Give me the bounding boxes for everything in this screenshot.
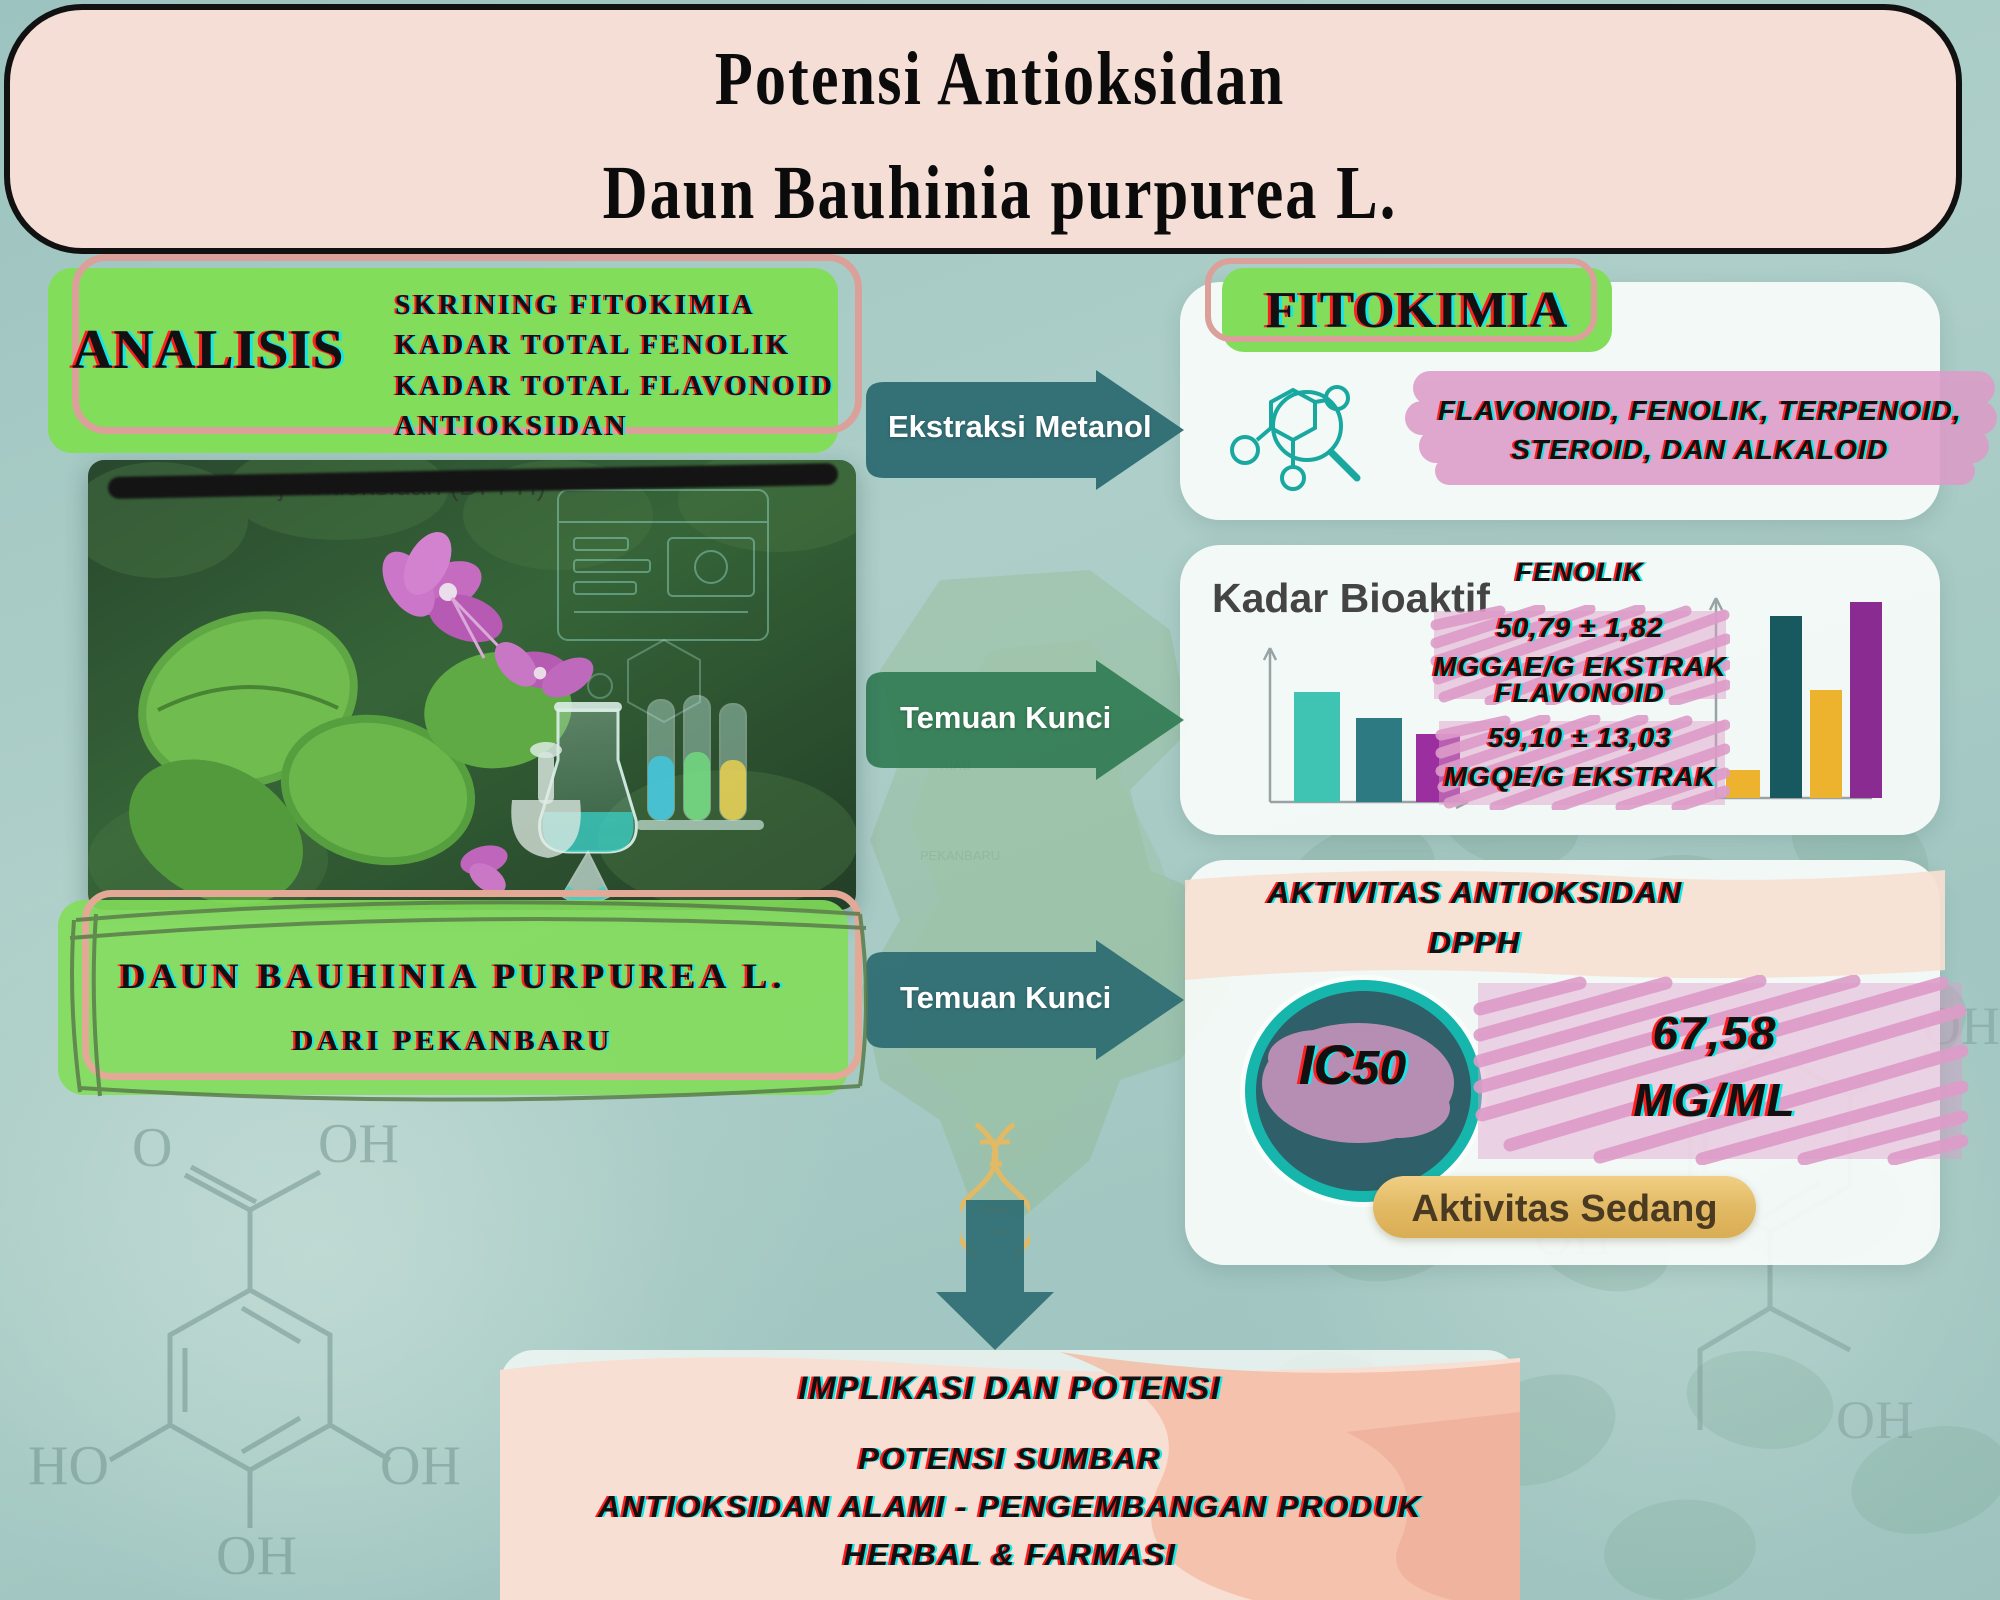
analysis-item-4: ANTIOKSIDAN xyxy=(395,407,835,447)
phenolic-label: FENOLIK xyxy=(1430,557,1730,588)
implications-line-3: HERBAL & FARMASI xyxy=(500,1531,1520,1579)
flavonoid-unit: MGQE/G EKSTRAK xyxy=(1425,757,1735,796)
sample-origin: DARI PEKANBARU xyxy=(58,1025,848,1058)
arrow-label-ekstraksi: Ekstraksi Metanol xyxy=(888,409,1152,445)
chem-label-ho: HO xyxy=(28,1435,109,1497)
antioxidant-title-line-1: AKTIVITAS ANTIOKSIDAN xyxy=(1245,875,1705,911)
bar-right-4 xyxy=(1850,602,1882,798)
arrow-label-temuan-2: Temuan Kunci xyxy=(900,980,1111,1016)
ic50-prefix: IC xyxy=(1299,1033,1353,1096)
svg-text:PEKANBARU: PEKANBARU xyxy=(920,848,1000,863)
chem-label-oh-3: OH xyxy=(216,1525,297,1580)
antioxidant-title-line-2: DPPH xyxy=(1245,925,1705,961)
ic50-value: 67,58 MG/ML xyxy=(1490,1000,1940,1133)
phytochemistry-compounds: FLAVONOID, FENOLIK, TERPENOID, STEROID, … xyxy=(1420,392,1980,469)
phenolic-value: 50,79 ± 1,82 MGGAE/G EKSTRAK xyxy=(1425,608,1735,686)
ic50-suffix: 50 xyxy=(1353,1042,1406,1095)
analysis-item-3: KADAR TOTAL FLAVONOID xyxy=(395,367,835,407)
analysis-item-1: SKRINING FITOKIMIA xyxy=(395,286,835,326)
flavonoid-number: 59,10 ± 13,03 xyxy=(1425,718,1735,757)
analysis-item-list: SKRINING FITOKIMIA KADAR TOTAL FENOLIK K… xyxy=(395,286,835,447)
implications-body: POTENSI SUMBAR ANTIOKSIDAN ALAMI - PENGE… xyxy=(500,1435,1520,1579)
ic50-number: 67,58 xyxy=(1490,1000,1940,1067)
chem-label-oh-2: OH xyxy=(380,1435,461,1497)
implications-line-2: ANTIOKSIDAN ALAMI - PENGEMBANGAN PRODUK xyxy=(500,1483,1520,1531)
flavonoid-value: 59,10 ± 13,03 MGQE/G EKSTRAK xyxy=(1425,718,1735,796)
arrow-down-to-implications xyxy=(930,1200,1060,1350)
bar-left-1 xyxy=(1294,692,1340,802)
bar-right-3 xyxy=(1810,690,1842,798)
page-title-line-2: Daun Bauhinia purpurea L. xyxy=(180,150,1820,237)
analysis-item-2: KADAR TOTAL FENOLIK xyxy=(395,326,835,366)
phenolic-number: 50,79 ± 1,82 xyxy=(1425,608,1735,647)
chem-label-o: O xyxy=(132,1117,172,1179)
sample-name: DAUN BAUHINIA PURPUREA L. xyxy=(58,955,848,997)
infographic-canvas: RIAU PEKANBARU SUMATERA xyxy=(0,0,2000,1600)
ic50-unit: MG/ML xyxy=(1490,1067,1940,1134)
implications-heading: IMPLIKASI DAN POTENSI xyxy=(500,1370,1520,1407)
implications-line-1: POTENSI SUMBAR xyxy=(500,1435,1520,1483)
bar-left-2 xyxy=(1356,718,1402,802)
sample-photo xyxy=(88,460,856,910)
phytochemistry-badge-label: FITOKIMIA xyxy=(1222,281,1612,340)
chem-label-oh-6: OH xyxy=(1836,1390,1914,1450)
activity-status-label: Aktivitas Sedang xyxy=(1373,1188,1756,1231)
bioactive-bar-chart-right xyxy=(1700,580,1935,815)
analysis-heading: ANALISIS xyxy=(72,318,345,382)
bar-right-2 xyxy=(1770,616,1802,798)
arrow-label-temuan-1: Temuan Kunci xyxy=(900,700,1111,736)
flavonoid-label: FLAVONOID xyxy=(1430,678,1730,709)
molecule-magnifier-icon xyxy=(1215,370,1405,500)
chem-label-oh-1: OH xyxy=(318,1113,399,1175)
page-title-line-1: Potensi Antioksidan xyxy=(180,36,1820,123)
chemical-structure-background-left: O OH HO OH OH xyxy=(20,1080,490,1580)
ic50-label: IC50 xyxy=(1245,1032,1460,1097)
